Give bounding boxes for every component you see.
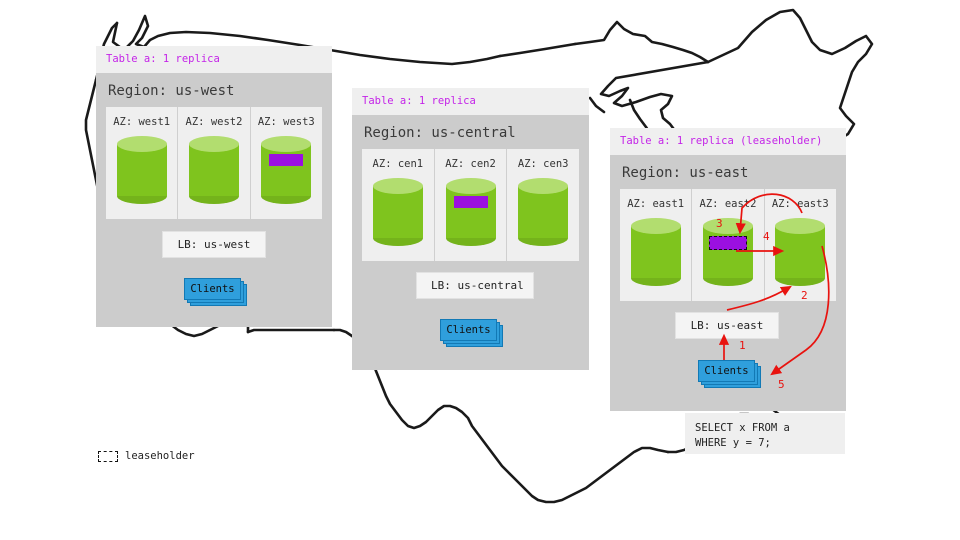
az-west1[interactable]: AZ: west1 bbox=[106, 107, 178, 219]
region-banner-us-west: Table a: 1 replica bbox=[96, 46, 332, 73]
az-east3[interactable]: AZ: east3 bbox=[765, 189, 836, 301]
flow-step-number-3: 3 bbox=[716, 217, 723, 230]
cylinder-top bbox=[446, 178, 496, 194]
sql-text: SELECT x FROM a WHERE y = 7; bbox=[695, 422, 790, 449]
clients-us-central[interactable]: Clients bbox=[440, 319, 500, 343]
region-panel-us-west: Table a: 1 replica Region: us-west AZ: w… bbox=[96, 46, 332, 327]
cylinder-top bbox=[631, 218, 681, 234]
legend-label-leaseholder: leaseholder bbox=[125, 450, 195, 462]
flow-step-number-5: 5 bbox=[778, 378, 785, 391]
flow-step-number-2: 2 bbox=[801, 289, 808, 302]
leaseholder-replica-marker bbox=[709, 236, 747, 250]
clients-us-west[interactable]: Clients bbox=[184, 278, 244, 302]
leaseholder-swatch-icon bbox=[98, 451, 118, 462]
az-label: AZ: cen2 bbox=[439, 158, 503, 170]
cylinder-top bbox=[261, 136, 311, 152]
region-banner-us-east: Table a: 1 replica (leaseholder) bbox=[610, 128, 846, 155]
node-cylinder[interactable] bbox=[373, 178, 423, 244]
node-cylinder[interactable] bbox=[775, 218, 825, 284]
replica-marker bbox=[454, 196, 488, 208]
az-row-us-central: AZ: cen1 AZ: cen2 AZ: cen3 bbox=[362, 149, 579, 261]
region-title-us-east: Region: us-east bbox=[610, 155, 846, 189]
az-row-us-east: AZ: east1 AZ: east2 AZ: east3 bbox=[620, 189, 836, 301]
cylinder-top bbox=[518, 178, 568, 194]
az-east2[interactable]: AZ: east2 bbox=[692, 189, 764, 301]
replica-marker bbox=[269, 154, 303, 166]
region-title-us-west: Region: us-west bbox=[96, 73, 332, 107]
region-panel-us-central: Table a: 1 replica Region: us-central AZ… bbox=[352, 88, 589, 370]
az-label: AZ: west2 bbox=[182, 116, 245, 128]
az-label: AZ: east2 bbox=[696, 198, 759, 210]
az-label: AZ: east3 bbox=[769, 198, 832, 210]
az-label: AZ: cen1 bbox=[366, 158, 430, 170]
clients-card-front[interactable]: Clients bbox=[440, 319, 497, 341]
az-west2[interactable]: AZ: west2 bbox=[178, 107, 250, 219]
node-cylinder[interactable] bbox=[631, 218, 681, 284]
load-balancer-us-east[interactable]: LB: us-east bbox=[675, 312, 779, 339]
az-label: AZ: cen3 bbox=[511, 158, 575, 170]
clients-card-front[interactable]: Clients bbox=[698, 360, 755, 382]
node-cylinder[interactable] bbox=[117, 136, 167, 202]
flow-step-number-1: 1 bbox=[739, 339, 746, 352]
az-cen3[interactable]: AZ: cen3 bbox=[507, 149, 579, 261]
diagram-canvas: Table a: 1 replica Region: us-west AZ: w… bbox=[0, 0, 960, 540]
cylinder-top bbox=[189, 136, 239, 152]
legend: leaseholder bbox=[98, 450, 195, 462]
load-balancer-us-west[interactable]: LB: us-west bbox=[162, 231, 266, 258]
cylinder-top bbox=[117, 136, 167, 152]
az-label: AZ: west1 bbox=[110, 116, 173, 128]
region-title-us-central: Region: us-central bbox=[352, 115, 589, 149]
az-cen1[interactable]: AZ: cen1 bbox=[362, 149, 435, 261]
az-label: AZ: west3 bbox=[255, 116, 318, 128]
cylinder-top bbox=[775, 218, 825, 234]
node-cylinder[interactable] bbox=[518, 178, 568, 244]
region-panel-us-east: Table a: 1 replica (leaseholder) Region:… bbox=[610, 128, 846, 411]
node-cylinder[interactable] bbox=[446, 178, 496, 244]
az-label: AZ: east1 bbox=[624, 198, 687, 210]
clients-us-east[interactable]: Clients bbox=[698, 360, 758, 384]
az-east1[interactable]: AZ: east1 bbox=[620, 189, 692, 301]
az-row-us-west: AZ: west1 AZ: west2 AZ: west3 bbox=[106, 107, 322, 219]
cylinder-top bbox=[373, 178, 423, 194]
node-cylinder[interactable] bbox=[261, 136, 311, 202]
flow-step-number-4: 4 bbox=[763, 230, 770, 243]
sql-query-box: SELECT x FROM a WHERE y = 7; bbox=[685, 413, 845, 454]
az-west3[interactable]: AZ: west3 bbox=[251, 107, 322, 219]
node-cylinder[interactable] bbox=[189, 136, 239, 202]
node-cylinder[interactable] bbox=[703, 218, 753, 284]
region-banner-us-central: Table a: 1 replica bbox=[352, 88, 589, 115]
cylinder-top bbox=[703, 218, 753, 234]
clients-card-front[interactable]: Clients bbox=[184, 278, 241, 300]
az-cen2[interactable]: AZ: cen2 bbox=[435, 149, 508, 261]
load-balancer-us-central[interactable]: LB: us-central bbox=[416, 272, 534, 299]
